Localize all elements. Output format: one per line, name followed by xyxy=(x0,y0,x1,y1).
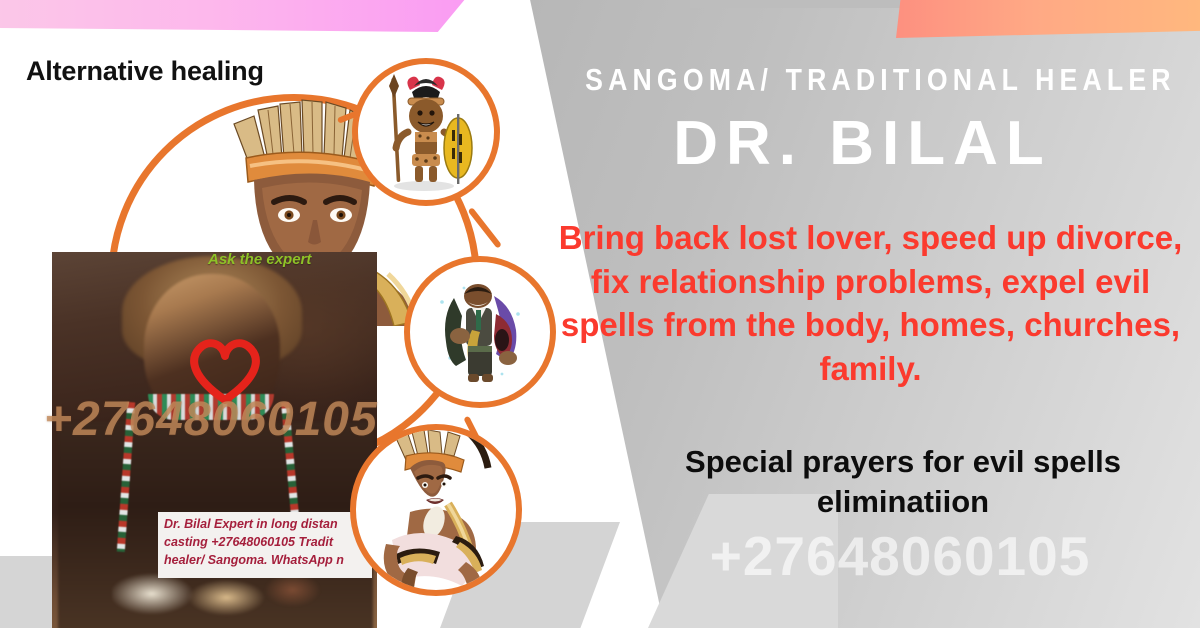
bottom-left-gray-block xyxy=(0,556,56,628)
photo-phone-watermark: +27648060105 xyxy=(44,392,378,447)
ask-the-expert-label: Ask the expert xyxy=(208,251,312,270)
poster-canvas: Alternative healing xyxy=(0,0,1200,628)
photo-caption-box: Dr. Bilal Expert in long distan casting … xyxy=(158,512,372,578)
circle-zulu-warrior xyxy=(352,58,500,206)
circle-caped-healer xyxy=(404,256,556,408)
caption-line-3: healer/ Sangoma. WhatsApp n xyxy=(164,552,366,570)
kicker-sangoma-traditional-healer: SANGOMA/ TRADITIONAL HEALER xyxy=(585,62,1140,98)
caption-line-1: Dr. Bilal Expert in long distan xyxy=(164,516,366,534)
caption-line-2: casting +27648060105 Tradit xyxy=(164,534,366,552)
top-left-pink-banner xyxy=(0,0,466,32)
page-title-alternative-healing: Alternative healing xyxy=(26,56,264,87)
circle-kneeling-warrior xyxy=(350,424,522,596)
phone-number-watermark: +27648060105 xyxy=(600,524,1200,588)
special-prayers-text: Special prayers for evil spells eliminat… xyxy=(618,442,1188,521)
right-text-column: SANGOMA/ TRADITIONAL HEALER DR. BILAL Br… xyxy=(540,0,1200,628)
doctor-name-heading: DR. BILAL xyxy=(540,108,1185,179)
kneeling-warrior-illustration-icon xyxy=(356,430,516,590)
caped-healer-figure-icon xyxy=(410,262,550,402)
zulu-warrior-cartoon-icon xyxy=(358,64,494,200)
services-description: Bring back lost lover, speed up divorce,… xyxy=(558,216,1183,390)
